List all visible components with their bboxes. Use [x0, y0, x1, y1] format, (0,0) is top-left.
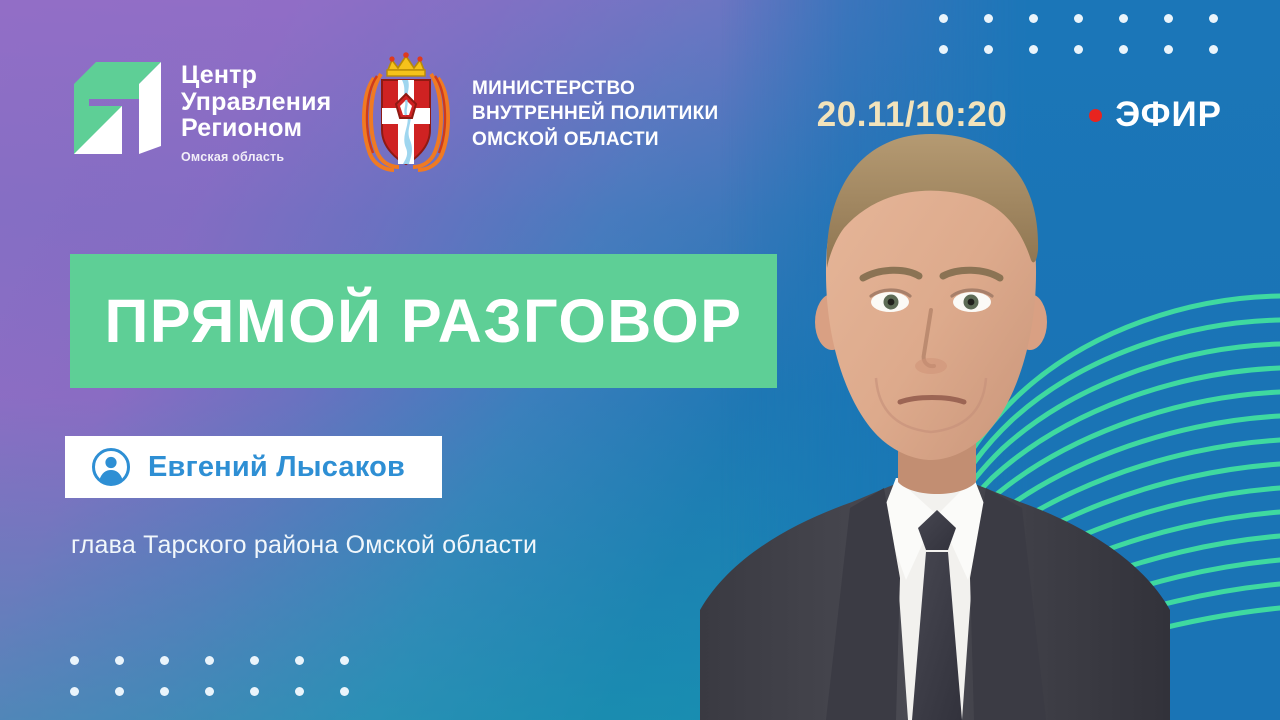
decor-dot — [250, 687, 259, 696]
cur-logo-block: Центр Управления Регионом Омская область — [70, 58, 331, 164]
person-avatar-icon — [91, 447, 131, 487]
live-indicator: ЭФИР — [1089, 95, 1222, 135]
cur-logo-text: Центр Управления Регионом Омская область — [181, 58, 331, 164]
broadcast-timestamp: 20.11/10:20 — [817, 95, 1007, 135]
decor-dot — [115, 687, 124, 696]
decor-dot — [70, 687, 79, 696]
ministry-line-3: ОМСКОЙ ОБЛАСТИ — [472, 127, 718, 153]
decor-dot — [295, 656, 304, 665]
decor-dot — [340, 687, 349, 696]
header-bar: Центр Управления Регионом Омская область — [0, 0, 1280, 190]
live-label: ЭФИР — [1115, 95, 1222, 135]
decor-dot — [205, 687, 214, 696]
decor-dot — [295, 687, 304, 696]
cur-line-1: Центр — [181, 62, 331, 89]
cur-cube-logo-icon — [70, 58, 165, 158]
cur-region-label: Омская область — [181, 150, 331, 164]
cur-line-2: Управления — [181, 89, 331, 116]
decor-dot — [160, 656, 169, 665]
decor-dot — [160, 687, 169, 696]
program-title: ПРЯМОЙ РАЗГОВОР — [105, 291, 743, 352]
omsk-oblast-coat-of-arms-icon — [358, 52, 454, 176]
ministry-logo-block: МИНИСТЕРСТВО ВНУТРЕННЕЙ ПОЛИТИКИ ОМСКОЙ … — [358, 52, 718, 176]
guest-name: Евгений Лысаков — [148, 451, 405, 484]
guest-role: глава Тарского района Омской области — [71, 531, 537, 560]
dot-grid-bottom-left — [70, 656, 349, 696]
decor-dot — [340, 656, 349, 665]
decor-dot — [115, 656, 124, 665]
ministry-line-2: ВНУТРЕННЕЙ ПОЛИТИКИ — [472, 101, 718, 127]
ministry-logo-text: МИНИСТЕРСТВО ВНУТРЕННЕЙ ПОЛИТИКИ ОМСКОЙ … — [472, 76, 718, 153]
program-title-banner: ПРЯМОЙ РАЗГОВОР — [70, 254, 777, 388]
guest-name-badge: Евгений Лысаков — [65, 436, 442, 498]
decor-dot — [70, 656, 79, 665]
live-red-dot-icon — [1089, 109, 1102, 122]
cur-line-3: Регионом — [181, 115, 331, 142]
broadcast-lower-third-overlay: Центр Управления Регионом Омская область — [0, 0, 1280, 720]
broadcast-status-block: 20.11/10:20 ЭФИР — [817, 95, 1222, 135]
ministry-line-1: МИНИСТЕРСТВО — [472, 76, 718, 102]
decor-dot — [250, 656, 259, 665]
decor-dot — [205, 656, 214, 665]
